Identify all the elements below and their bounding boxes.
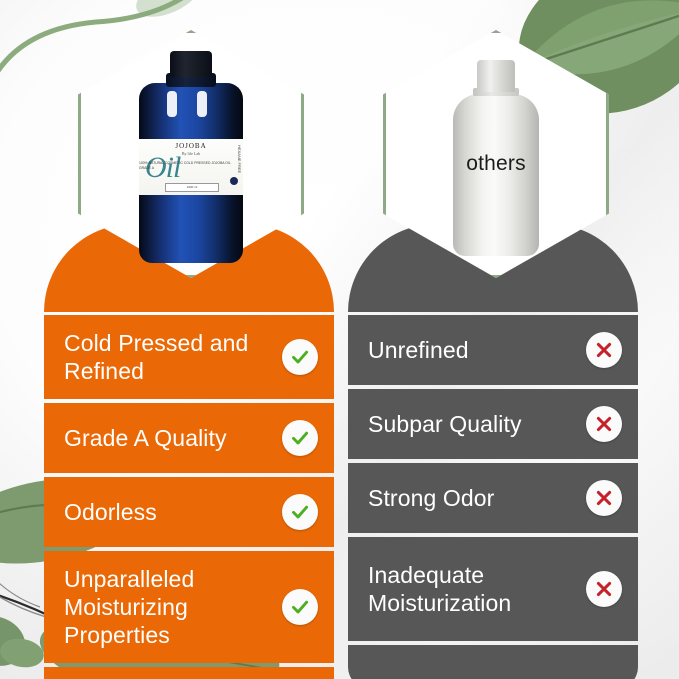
right-product-badge: others <box>383 30 609 278</box>
table-row[interactable]: Cold Pressed and Refined <box>44 315 334 399</box>
left-column-jojoba: Cold Pressed and Refined Grade A Quality <box>44 224 334 679</box>
check-circle-icon <box>282 494 318 530</box>
left-column-tail <box>44 667 334 679</box>
check-circle-icon <box>282 589 318 625</box>
bottle-fine-print: 100% NATURAL COSMETIC COLD PRESSED JOJOB… <box>139 161 235 171</box>
left-product-badge: JOJOBA By life Lab Oil 100% NATURAL COSM… <box>78 30 304 278</box>
cross-circle-icon <box>586 571 622 607</box>
cross-circle-icon <box>586 332 622 368</box>
bottle-label: JOJOBA By life Lab Oil 100% NATURAL COSM… <box>139 139 243 195</box>
table-row[interactable]: Subpar Quality <box>348 389 638 459</box>
table-row[interactable]: Unparalleled Moisturizing Properties <box>44 551 334 663</box>
left-feature-rows: Cold Pressed and Refined Grade A Quality <box>44 315 334 679</box>
jojoba-oil-bottle: JOJOBA By life Lab Oil 100% NATURAL COSM… <box>139 51 243 263</box>
others-label: others <box>453 152 539 176</box>
feature-label: Odorless <box>64 498 157 526</box>
table-row[interactable]: Odorless <box>44 477 334 547</box>
bottle-seal-icon <box>230 177 238 185</box>
table-row[interactable]: Inadequate Moisturization <box>348 537 638 641</box>
bottle-highlight <box>167 91 177 117</box>
feature-label: Strong Odor <box>368 484 494 512</box>
bottle-volume-box: 1000 ml <box>165 183 219 192</box>
table-row[interactable]: Grade A Quality <box>44 403 334 473</box>
hexagon-content: JOJOBA By life Lab Oil 100% NATURAL COSM… <box>78 30 304 278</box>
table-row[interactable]: Strong Odor <box>348 463 638 533</box>
right-column-others: Unrefined Subpar Quality <box>348 224 638 679</box>
cross-circle-icon <box>586 406 622 442</box>
feature-label: Unrefined <box>368 336 469 364</box>
check-circle-icon <box>282 420 318 456</box>
others-bottle: others <box>453 60 539 256</box>
right-feature-rows: Unrefined Subpar Quality <box>348 315 638 679</box>
cross-circle-icon <box>586 480 622 516</box>
comparison-infographic: Cold Pressed and Refined Grade A Quality <box>0 0 679 679</box>
bottle-side-text: HEXANE FREE <box>237 145 242 173</box>
bottle-brand: JOJOBA <box>139 142 243 150</box>
feature-label: Inadequate Moisturization <box>368 561 573 617</box>
bottle-cap <box>170 51 212 77</box>
check-circle-icon <box>282 339 318 375</box>
feature-label: Subpar Quality <box>368 410 522 438</box>
bottle-highlight <box>197 91 207 117</box>
right-column-tail <box>348 645 638 679</box>
feature-label: Unparalleled Moisturizing Properties <box>64 565 269 649</box>
hexagon-content: others <box>383 30 609 278</box>
feature-label: Cold Pressed and Refined <box>64 329 269 385</box>
table-row[interactable]: Unrefined <box>348 315 638 385</box>
bottle-cap <box>477 60 515 92</box>
feature-label: Grade A Quality <box>64 424 227 452</box>
